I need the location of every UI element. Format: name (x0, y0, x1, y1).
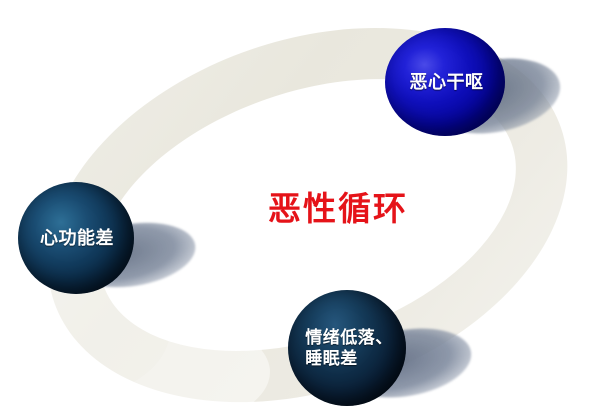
node-cardiac-sphere[interactable]: 心功能差 (18, 182, 134, 294)
node-mood[interactable]: 情绪低落、 睡眠差 (288, 290, 478, 412)
node-mood-label: 情绪低落、 睡眠差 (305, 327, 393, 370)
node-cardiac[interactable]: 心功能差 (18, 182, 203, 317)
node-nausea-sphere[interactable]: 恶心干呕 (385, 28, 505, 136)
node-nausea[interactable]: 恶心干呕 (385, 28, 565, 168)
node-cardiac-label: 心功能差 (40, 227, 114, 250)
diagram-canvas: 恶心干呕 心功能差 情绪低落、 睡眠差 恶性循环 (0, 0, 616, 412)
node-nausea-label: 恶心干呕 (410, 71, 484, 94)
node-mood-sphere[interactable]: 情绪低落、 睡眠差 (288, 290, 406, 406)
page-title: 恶性循环 (258, 192, 418, 225)
